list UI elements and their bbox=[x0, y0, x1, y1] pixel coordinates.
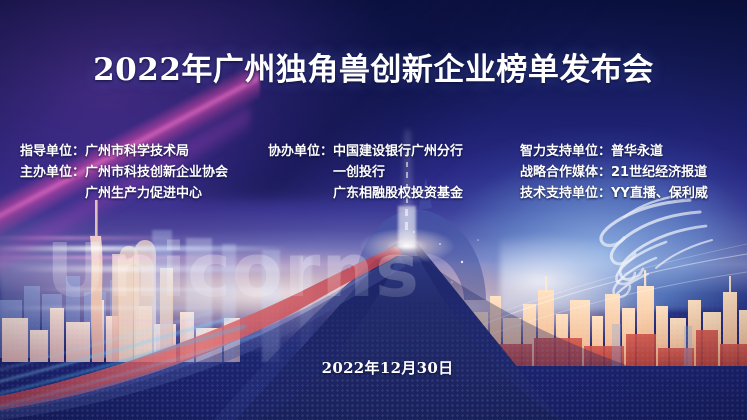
credit-label: 指导单位： bbox=[20, 141, 85, 162]
credit-row: 技术支持单位： YY直播、保利威 bbox=[520, 183, 708, 204]
credits-column-organizers: 指导单位： 广州市科学技术局 主办单位： 广州市科技创新企业协会 主办单位： 广… bbox=[20, 141, 228, 204]
credit-label: 智力支持单位： bbox=[520, 141, 611, 162]
credit-row: 主办单位： 广州市科技创新企业协会 bbox=[20, 162, 228, 183]
credit-label: 主办单位： bbox=[20, 162, 85, 183]
event-date-text: 2022年12月30日 bbox=[322, 357, 454, 378]
credits-column-support: 智力支持单位： 普华永道 战略合作媒体： 21世纪经济报道 技术支持单位： YY… bbox=[520, 141, 708, 204]
poster-canvas: Unicorns bbox=[0, 0, 747, 420]
event-date: 2022年12月30日 bbox=[0, 357, 747, 378]
credit-label: 协办单位： bbox=[268, 141, 333, 162]
credits-column-co-organizers: 协办单位： 中国建设银行广州分行 协办单位： 一创投行 协办单位： 广东相融股权… bbox=[268, 141, 463, 204]
credit-row: 协办单位： 广东相融股权投资基金 bbox=[268, 183, 463, 204]
credit-value: YY直播、保利威 bbox=[611, 183, 708, 204]
credit-value: 普华永道 bbox=[611, 141, 663, 162]
credit-label: 技术支持单位： bbox=[520, 183, 611, 204]
credit-value: 广州市科技创新企业协会 bbox=[85, 162, 228, 183]
credit-value: 21世纪经济报道 bbox=[611, 162, 707, 183]
credit-row: 协办单位： 一创投行 bbox=[268, 162, 463, 183]
credit-label: 战略合作媒体： bbox=[520, 162, 611, 183]
page-title: 2022年广州独角兽创新企业榜单发布会 bbox=[0, 44, 747, 89]
credit-row: 指导单位： 广州市科学技术局 bbox=[20, 141, 228, 162]
credit-value: 广州生产力促进中心 bbox=[85, 183, 202, 204]
credit-value: 广州市科学技术局 bbox=[85, 141, 189, 162]
credit-value: 广东相融股权投资基金 bbox=[333, 183, 463, 204]
credit-row: 战略合作媒体： 21世纪经济报道 bbox=[520, 162, 708, 183]
credits-block: 指导单位： 广州市科学技术局 主办单位： 广州市科技创新企业协会 主办单位： 广… bbox=[0, 141, 747, 215]
credit-value: 一创投行 bbox=[333, 162, 385, 183]
credit-row: 主办单位： 广州生产力促进中心 bbox=[20, 183, 228, 204]
credit-value: 中国建设银行广州分行 bbox=[333, 141, 463, 162]
credit-row: 智力支持单位： 普华永道 bbox=[520, 141, 708, 162]
credit-row: 协办单位： 中国建设银行广州分行 bbox=[268, 141, 463, 162]
dot-grid-texture bbox=[0, 288, 747, 420]
